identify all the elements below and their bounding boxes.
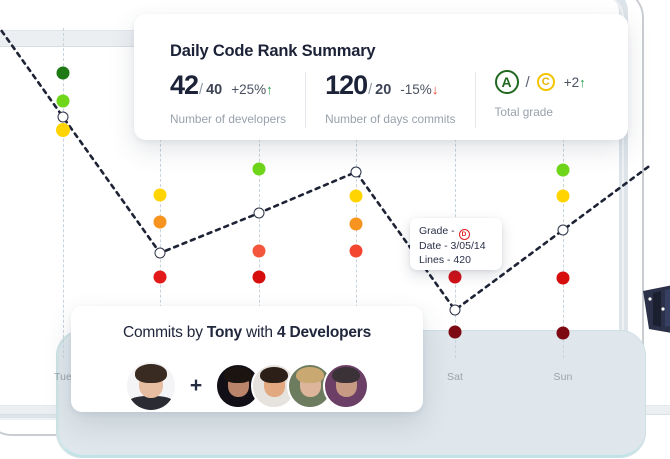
trend-node-sun[interactable]: [558, 225, 569, 236]
data-point-sun-2[interactable]: [557, 272, 570, 285]
developers-label: Number of developers: [170, 112, 286, 126]
summary-card-title: Daily Code Rank Summary: [170, 42, 375, 61]
developers-slash: /: [199, 82, 203, 98]
avatar-hair: [260, 367, 289, 384]
grade-separator: /: [526, 74, 530, 91]
grade-c-badge-icon: C: [537, 73, 555, 91]
trend-node-fri[interactable]: [351, 167, 362, 178]
daily-code-rank-summary-card: Daily Code Rank Summary 42 / 40 +25% ↑ N…: [134, 14, 628, 140]
axis-label-sat: Sat: [447, 371, 463, 383]
plus-symbol: +: [190, 374, 202, 398]
days-commits-delta: -15%: [400, 82, 432, 97]
days-commits-label: Number of days commits: [325, 112, 455, 126]
stat-divider-2: [475, 72, 476, 128]
stat-divider-1: [305, 72, 306, 128]
summary-stats-row: 42 / 40 +25% ↑ Number of developers 120 …: [170, 70, 586, 128]
data-point-tue-0[interactable]: [57, 67, 70, 80]
avatar-face: [127, 362, 175, 410]
stat-total-grade: A / C +2 ↑ Total grade: [495, 70, 586, 119]
commits-title-prefix: Commits by: [123, 324, 207, 341]
data-point-thu-0[interactable]: [253, 163, 266, 176]
data-point-fri-0[interactable]: [350, 190, 363, 203]
days-commits-value: 120: [325, 70, 367, 101]
days-commits-target: 20: [375, 82, 391, 98]
commits-title-count: 4 Developers: [277, 324, 371, 341]
tooltip-date-line: Date - 3/05/14: [419, 240, 493, 254]
trend-node-sat[interactable]: [450, 305, 461, 316]
developers-delta: +25%: [231, 82, 266, 97]
data-point-wed-1[interactable]: [154, 216, 167, 229]
arrow-down-icon: ↓: [432, 82, 439, 97]
arrow-up-icon: ↑: [266, 82, 273, 97]
developer-4-avatar[interactable]: [323, 363, 369, 409]
avatar-hair: [332, 367, 361, 384]
avatar-hair: [135, 364, 168, 383]
data-point-fri-1[interactable]: [350, 218, 363, 231]
grade-delta: +2: [564, 75, 579, 90]
stat-developers: 42 / 40 +25% ↑ Number of developers: [170, 70, 286, 126]
avatar-row: +: [71, 360, 423, 412]
days-commits-slash: /: [368, 82, 372, 98]
data-point-sun-0[interactable]: [557, 164, 570, 177]
avatar-face: [325, 365, 367, 407]
commits-by-developer-card: Commits by Tony with 4 Developers +: [71, 306, 423, 412]
data-point-sat-1[interactable]: [449, 326, 462, 339]
grade-a-badge-icon: A: [495, 70, 519, 94]
data-point-sat-0[interactable]: [449, 271, 462, 284]
data-point-tue-2[interactable]: [56, 123, 70, 137]
commits-title-name: Tony: [207, 324, 242, 341]
tony-avatar[interactable]: [125, 360, 177, 412]
tooltip-grade-line: Grade - D: [419, 225, 493, 240]
avatar-hair: [296, 367, 325, 384]
data-point-wed-2[interactable]: [154, 271, 167, 284]
data-point-thu-2[interactable]: [253, 271, 266, 284]
commits-card-title: Commits by Tony with 4 Developers: [71, 324, 423, 342]
data-point-fri-2[interactable]: [350, 245, 363, 258]
avatar-hair: [224, 367, 253, 384]
data-point-tue-1[interactable]: [57, 95, 70, 108]
offscreen-dark-card-fragment: [643, 283, 670, 335]
data-point-sun-1[interactable]: [557, 190, 570, 203]
data-point-thu-1[interactable]: [253, 245, 266, 258]
arrow-up-icon: ↑: [579, 75, 586, 90]
tooltip-lines-line: Lines - 420: [419, 254, 493, 268]
trend-node-thu[interactable]: [254, 208, 265, 219]
data-point-sun-3[interactable]: [557, 327, 570, 340]
tooltip-grade-label: Grade -: [419, 225, 455, 237]
total-grade-label: Total grade: [495, 105, 586, 119]
trend-node-tue[interactable]: [58, 112, 69, 123]
stat-days-commits: 120 / 20 -15% ↓ Number of days commits: [325, 70, 455, 126]
trend-node-wed[interactable]: [155, 248, 166, 259]
developer-avatar-group[interactable]: [215, 363, 369, 409]
axis-label-sun: Sun: [554, 371, 573, 383]
tooltip-grade-badge-icon: D: [459, 229, 470, 240]
data-point-tooltip: Grade - D Date - 3/05/14 Lines - 420: [410, 218, 502, 270]
axis-label-tue: Tue: [54, 371, 72, 383]
screenshot-root: TueSatSun Daily Code Rank Summary 42 / 4…: [0, 0, 670, 459]
commits-title-middle: with: [242, 324, 277, 341]
developers-target: 40: [206, 82, 222, 98]
data-point-wed-0[interactable]: [154, 189, 167, 202]
developers-value: 42: [170, 70, 198, 101]
